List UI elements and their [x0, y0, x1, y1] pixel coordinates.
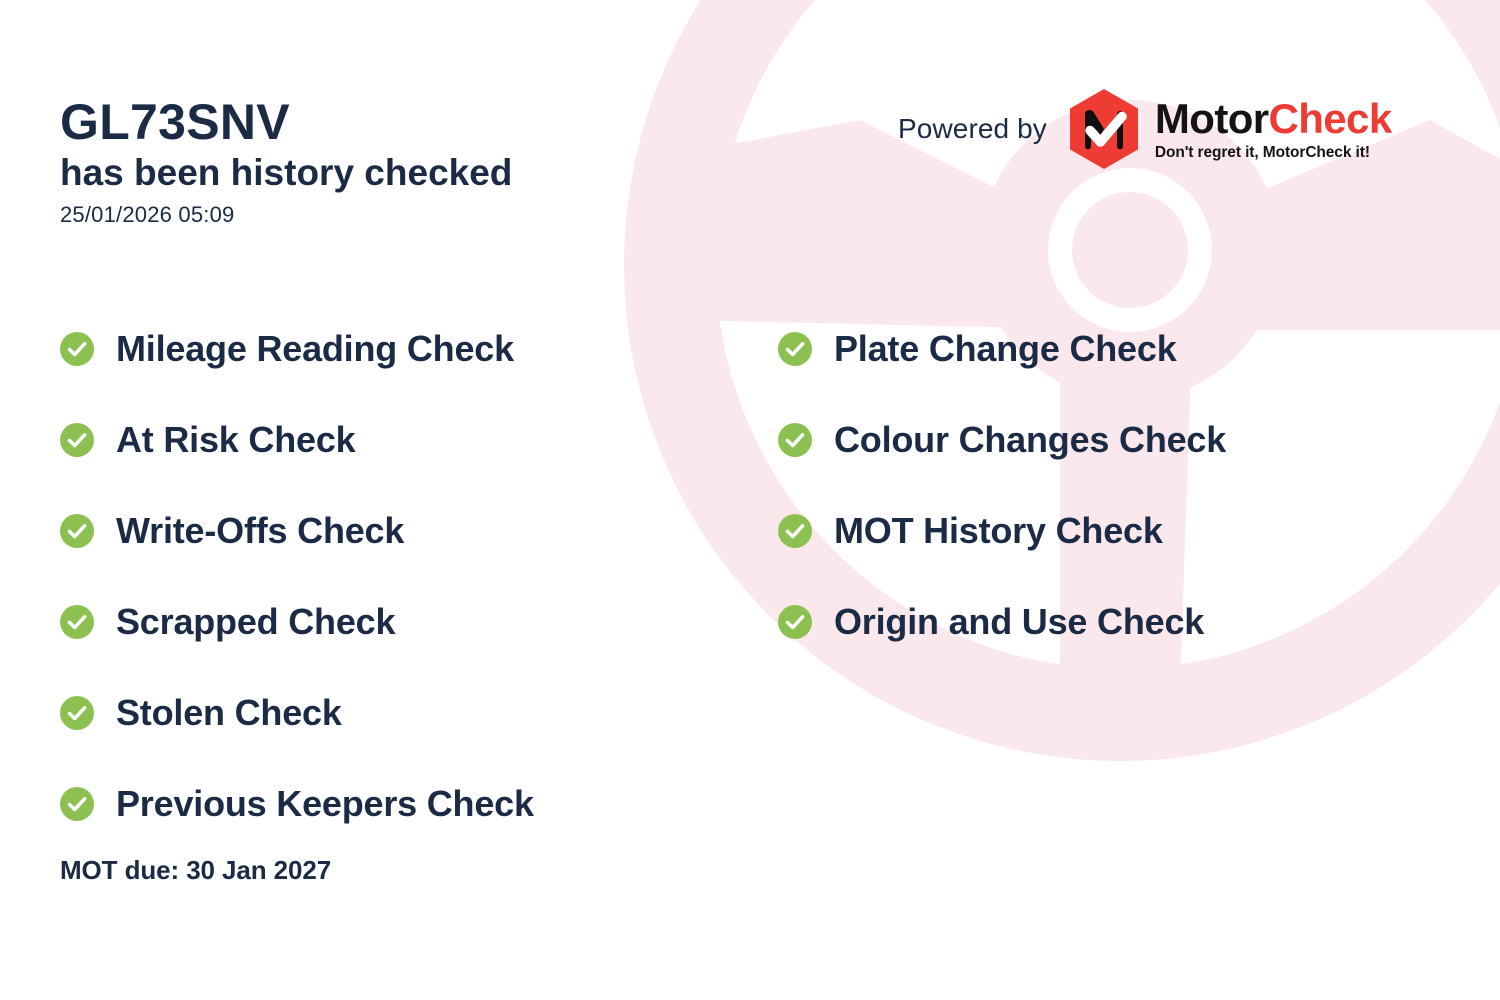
green-circle-check-icon: [60, 605, 94, 639]
check-timestamp: 25/01/2026 05:09: [60, 201, 512, 230]
check-label: Stolen Check: [116, 695, 342, 731]
green-circle-check-icon: [778, 332, 812, 366]
green-circle-check-icon: [778, 514, 812, 548]
page-title: has been history checked: [60, 151, 512, 195]
motorcheck-wordmark: MotorCheck Don't regret it, MotorCheck i…: [1155, 98, 1392, 161]
powered-by-label: Powered by: [898, 113, 1047, 145]
list-item: Previous Keepers Check: [60, 758, 760, 849]
list-item: Origin and Use Check: [778, 576, 1438, 667]
list-item: Stolen Check: [60, 667, 760, 758]
checks-grid: Mileage Reading Check At Risk Check Writ…: [60, 303, 1440, 849]
check-label: Previous Keepers Check: [116, 786, 534, 822]
check-label: Scrapped Check: [116, 604, 395, 640]
header-block: GL73SNV has been history checked 25/01/2…: [60, 96, 512, 229]
list-item: Scrapped Check: [60, 576, 760, 667]
green-circle-check-icon: [60, 332, 94, 366]
list-item: Write-Offs Check: [60, 485, 760, 576]
check-label: Colour Changes Check: [834, 422, 1226, 458]
green-circle-check-icon: [60, 787, 94, 821]
list-item: Mileage Reading Check: [60, 303, 760, 394]
green-circle-check-icon: [60, 696, 94, 730]
list-item: At Risk Check: [60, 394, 760, 485]
wordmark-line: MotorCheck: [1155, 98, 1392, 140]
wordmark-check: Check: [1269, 95, 1392, 142]
motorcheck-hexagon-m-tick-icon: [1065, 88, 1143, 170]
check-label: At Risk Check: [116, 422, 356, 458]
brand-lockup: Powered by MotorCheck Don't regret it, M…: [898, 88, 1392, 170]
mot-due-text: MOT due: 30 Jan 2027: [60, 855, 331, 886]
list-item: Colour Changes Check: [778, 394, 1438, 485]
check-label: Write-Offs Check: [116, 513, 404, 549]
green-circle-check-icon: [778, 423, 812, 457]
green-circle-check-icon: [60, 423, 94, 457]
list-item: MOT History Check: [778, 485, 1438, 576]
list-item: Plate Change Check: [778, 303, 1438, 394]
green-circle-check-icon: [60, 514, 94, 548]
checks-column-left: Mileage Reading Check At Risk Check Writ…: [60, 303, 760, 849]
check-label: Mileage Reading Check: [116, 331, 514, 367]
vehicle-registration: GL73SNV: [60, 96, 512, 149]
green-circle-check-icon: [778, 605, 812, 639]
check-label: Plate Change Check: [834, 331, 1177, 367]
vehicle-history-check-card: GL73SNV has been history checked 25/01/2…: [0, 0, 1500, 1000]
brand-tagline: Don't regret it, MotorCheck it!: [1155, 145, 1392, 161]
wordmark-motor: Motor: [1155, 95, 1269, 142]
motorcheck-logo[interactable]: MotorCheck Don't regret it, MotorCheck i…: [1065, 88, 1392, 170]
checks-column-right: Plate Change Check Colour Changes Check …: [760, 303, 1438, 849]
check-label: Origin and Use Check: [834, 604, 1204, 640]
check-label: MOT History Check: [834, 513, 1163, 549]
